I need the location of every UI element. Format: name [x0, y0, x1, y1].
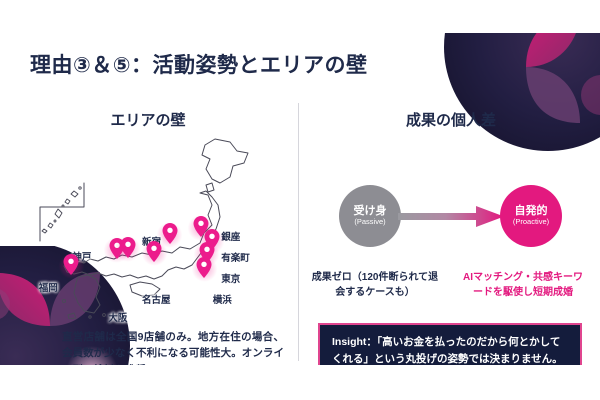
- japan-map: 新宿銀座有楽町東京横浜名古屋神戸大阪福岡: [34, 129, 274, 319]
- outcome-positive-text: AIマッチング・共感キーワードを駆使し短期成婚: [462, 270, 584, 300]
- map-pin: [147, 241, 162, 262]
- map-city-label: 有楽町: [221, 250, 250, 264]
- panel-divider: [298, 103, 299, 361]
- left-panel-caption: 直営店舗は全国9店舗のみ。地方在住の場合、会員数が少なく不利になる可能性大。オン…: [62, 329, 284, 365]
- map-pin: [64, 254, 79, 275]
- proactive-label-en: (Proactive): [513, 217, 549, 228]
- map-city-label: 東京: [221, 271, 240, 285]
- proactive-label-jp: 自発的: [515, 205, 548, 217]
- passive-circle: 受け身 (Passive): [339, 185, 401, 247]
- insight-text: Insight：「高いお金を払ったのだから何とかしてくれる」という丸投げの姿勢で…: [332, 334, 568, 365]
- proactive-circle: 自発的 (Proactive): [500, 185, 562, 247]
- passive-label-jp: 受け身: [354, 205, 387, 217]
- map-city-label: 福岡: [39, 280, 58, 294]
- map-city-label: 名古屋: [142, 292, 171, 306]
- outcome-negative-text: 成果ゼロ（120件断られて退会するケースも）: [310, 270, 440, 300]
- map-pin: [162, 223, 177, 244]
- insight-box: Insight：「高いお金を払ったのだから何とかしてくれる」という丸投げの姿勢で…: [318, 323, 582, 365]
- slide-canvas: 理由③＆⑤：活動姿勢とエリアの壁 エリアの壁: [0, 33, 600, 365]
- map-city-label: 横浜: [213, 292, 232, 306]
- decoration-top-right: [430, 33, 600, 161]
- gradient-arrow-right-icon: [398, 206, 504, 227]
- map-pin: [197, 257, 212, 278]
- right-panel-heading: 成果の個人差: [302, 109, 600, 130]
- map-city-label: 大阪: [108, 310, 127, 324]
- map-pin: [120, 237, 135, 258]
- left-panel-heading: エリアの壁: [0, 109, 296, 130]
- page-title: 理由③＆⑤：活動姿勢とエリアの壁: [30, 49, 368, 79]
- passive-label-en: (Passive): [354, 217, 385, 228]
